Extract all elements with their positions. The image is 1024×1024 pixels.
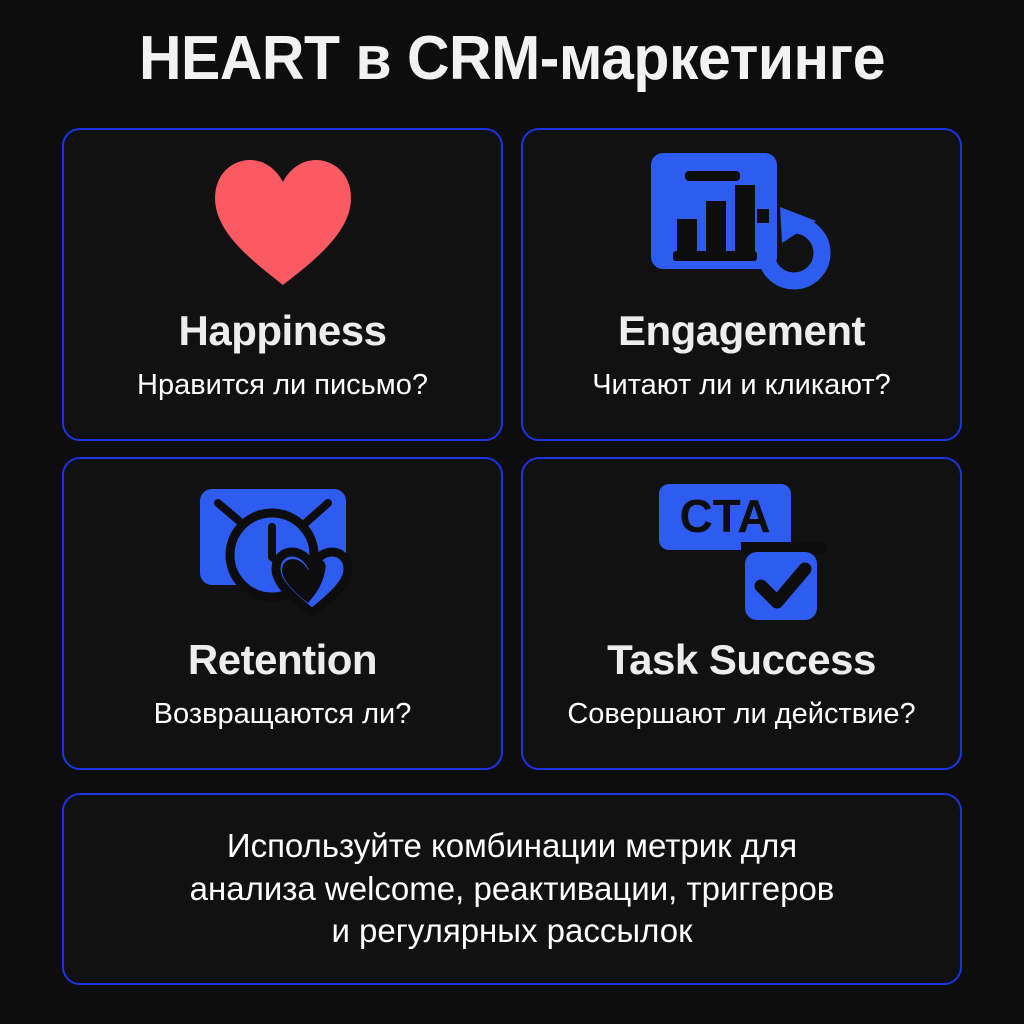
page-title: HEART в CRM-маркетинге [26, 26, 999, 91]
card-task-success[interactable]: CTA Task Success Совершают ли действие? [521, 457, 962, 770]
cta-icon-label: CTA [679, 490, 770, 542]
infographic-page: HEART в CRM-маркетинге Happiness Нравитс… [0, 0, 1024, 1024]
card-retention-title: Retention [188, 639, 377, 681]
card-task-success-icon-wrap: CTA [523, 465, 960, 637]
card-retention-subtitle: Возвращаются ли? [154, 699, 412, 731]
card-happiness-subtitle: Нравится ли письмо? [137, 370, 428, 402]
envelope-clock-heart-icon [194, 481, 372, 621]
footer-callout-text: Используйте комбинации метрик для анализ… [190, 825, 835, 954]
card-engagement-subtitle: Читают ли и кликают? [592, 370, 891, 402]
card-happiness[interactable]: Happiness Нравится ли письмо? [62, 128, 503, 441]
card-retention-icon-wrap [64, 465, 501, 637]
card-task-success-subtitle: Совершают ли действие? [567, 699, 915, 731]
card-happiness-title: Happiness [179, 310, 387, 352]
card-retention[interactable]: Retention Возвращаются ли? [62, 457, 503, 770]
heart-icon [211, 156, 355, 288]
card-engagement-icon-wrap [523, 136, 960, 308]
card-engagement[interactable]: Engagement Читают ли и кликают? [521, 128, 962, 441]
metric-card-grid: Happiness Нравится ли письмо? [62, 128, 962, 770]
bar-chart-refresh-icon [649, 151, 835, 293]
card-task-success-title: Task Success [607, 639, 876, 681]
card-happiness-icon-wrap [64, 136, 501, 308]
footer-callout-card[interactable]: Используйте комбинации метрик для анализ… [62, 793, 962, 985]
cta-checkbox-icon: CTA [657, 480, 827, 622]
card-engagement-title: Engagement [618, 310, 865, 352]
